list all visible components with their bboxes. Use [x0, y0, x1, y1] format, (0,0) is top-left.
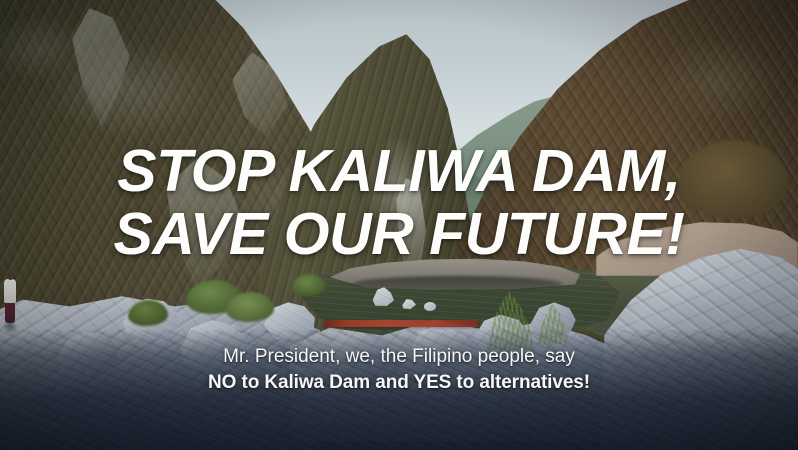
subtitle-line-1: Mr. President, we, the Filipino people, … — [0, 344, 798, 370]
headline: STOP KALIWA DAM, SAVE OUR FUTURE! — [0, 140, 798, 266]
text-overlay: STOP KALIWA DAM, SAVE OUR FUTURE! Mr. Pr… — [0, 0, 798, 450]
subtitle-line-2: NO to Kaliwa Dam and YES to alternatives… — [0, 370, 798, 396]
campaign-poster: STOP KALIWA DAM, SAVE OUR FUTURE! Mr. Pr… — [0, 0, 798, 450]
headline-line-2: SAVE OUR FUTURE! — [0, 203, 798, 266]
red-underline-bar — [325, 320, 478, 327]
headline-line-1: STOP KALIWA DAM, — [0, 140, 798, 203]
subtitle: Mr. President, we, the Filipino people, … — [0, 344, 798, 396]
